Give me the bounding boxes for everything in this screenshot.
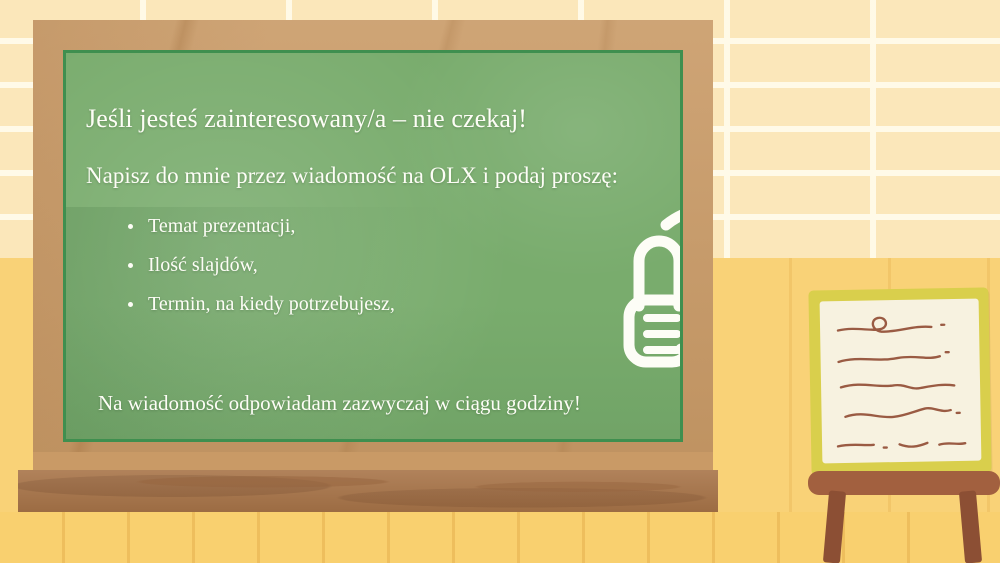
easel-board-frame [808,287,991,475]
requirements-list: Temat prezentacji, Ilość slajdów, Termin… [126,216,395,333]
chalkboard-surface: Jeśli jesteś zainteresowany/a – nie czek… [66,53,680,439]
bullet-dot-icon [128,302,133,307]
easel-flipchart-icon [810,289,1000,563]
subline-text: Napisz do mnie przez wiadomość na OLX i … [86,163,618,188]
list-item-label: Temat prezentacji, [148,215,295,237]
slide-canvas: Jeśli jesteś zainteresowany/a – nie czek… [0,0,1000,563]
chalk-text-layer: Jeśli jesteś zainteresowany/a – nie czek… [66,53,680,439]
list-item: Termin, na kiedy potrzebujesz, [126,294,395,314]
bullet-dot-icon [128,263,133,268]
chalk-tray-ledge [18,470,718,512]
easel-leg-left [823,490,846,563]
list-item-label: Termin, na kiedy potrzebujesz, [148,293,395,315]
easel-leg-right [959,490,982,563]
chalkboard-frame-bottom [33,452,713,472]
list-item-label: Ilość slajdów, [148,254,258,276]
chalkboard-border: Jeśli jesteś zainteresowany/a – nie czek… [63,50,683,442]
easel-paper-sheet [820,299,982,464]
headline-text: Jeśli jesteś zainteresowany/a – nie czek… [86,105,527,134]
list-item: Ilość slajdów, [126,255,395,275]
bullet-dot-icon [128,224,133,229]
winking-face-thumbs-up-icon [619,193,680,378]
handwriting-scribble-icon [820,299,982,464]
list-item: Temat prezentacji, [126,216,395,236]
chalkboard-frame: Jeśli jesteś zainteresowany/a – nie czek… [33,20,713,472]
closing-text: Na wiadomość odpowiadam zazwyczaj w ciąg… [98,391,581,416]
ledge-wood-grain [18,470,718,512]
